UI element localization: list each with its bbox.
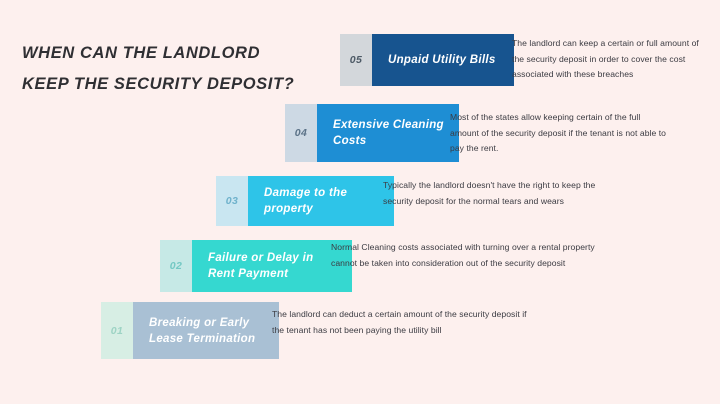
- step-description-01: The landlord can deduct a certain amount…: [272, 307, 528, 338]
- step-title-box-03: Damage to the property: [248, 176, 394, 226]
- step-title-text-05: Unpaid Utility Bills: [388, 52, 500, 68]
- step-row-03: 03 Damage to the property: [216, 176, 394, 226]
- step-number-box-01: 01: [101, 302, 133, 359]
- step-title-box-02: Failure or Delay in Rent Payment: [192, 240, 352, 292]
- step-number-label-03: 03: [226, 195, 238, 207]
- step-description-04: Most of the states allow keeping certain…: [450, 110, 666, 157]
- step-description-03: Typically the landlord doesn't have the …: [383, 178, 621, 209]
- step-number-label-02: 02: [170, 260, 182, 272]
- step-title-text-03: Damage to the property: [264, 185, 380, 217]
- step-title-text-01: Breaking or Early Lease Termination: [149, 315, 265, 347]
- step-title-box-01: Breaking or Early Lease Termination: [133, 302, 279, 359]
- step-row-05: 05 Unpaid Utility Bills: [340, 34, 514, 86]
- step-number-box-04: 04: [285, 104, 317, 162]
- step-title-text-02: Failure or Delay in Rent Payment: [208, 250, 338, 282]
- page-title: WHEN CAN THE LANDLORD KEEP THE SECURITY …: [22, 38, 302, 100]
- step-row-01: 01 Breaking or Early Lease Termination: [101, 302, 279, 359]
- step-description-05: The landlord can keep a certain or full …: [512, 36, 706, 83]
- step-title-box-04: Extensive Cleaning Costs: [317, 104, 459, 162]
- step-title-text-04: Extensive Cleaning Costs: [333, 117, 445, 149]
- step-number-label-01: 01: [111, 325, 123, 337]
- step-number-label-05: 05: [350, 54, 362, 66]
- step-row-04: 04 Extensive Cleaning Costs: [285, 104, 459, 162]
- step-number-box-05: 05: [340, 34, 372, 86]
- infographic-canvas: WHEN CAN THE LANDLORD KEEP THE SECURITY …: [0, 0, 720, 404]
- step-description-02: Normal Cleaning costs associated with tu…: [331, 240, 595, 271]
- step-title-box-05: Unpaid Utility Bills: [372, 34, 514, 86]
- step-number-label-04: 04: [295, 127, 307, 139]
- step-row-02: 02 Failure or Delay in Rent Payment: [160, 240, 352, 292]
- step-number-box-02: 02: [160, 240, 192, 292]
- step-number-box-03: 03: [216, 176, 248, 226]
